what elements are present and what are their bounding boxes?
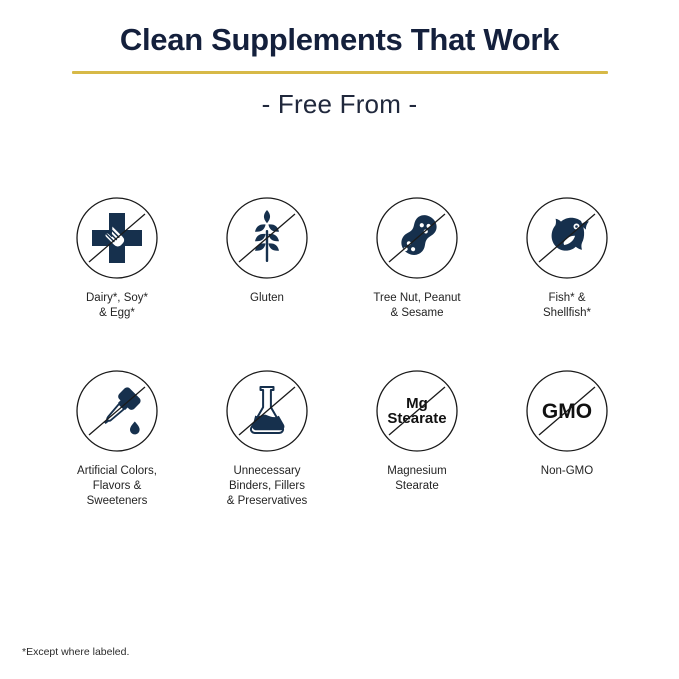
gmo-text-icon: GMO — [525, 369, 609, 453]
free-from-item-non-gmo: GMO Non-GMO — [492, 369, 642, 479]
page-subtitle: - Free From - — [0, 89, 679, 120]
free-from-item-label: Non-GMO — [541, 464, 593, 479]
page-title: Clean Supplements That Work — [0, 22, 679, 58]
free-from-item-dairy-soy-egg: Dairy*, Soy* & Egg* — [42, 196, 192, 320]
free-from-item-artificial-colors: Artificial Colors, Flavors & Sweeteners — [42, 369, 192, 508]
wheat-stalk-icon — [225, 196, 309, 280]
free-from-item-label: Artificial Colors, Flavors & Sweeteners — [77, 464, 157, 508]
free-from-infographic: Clean Supplements That Work - Free From … — [0, 0, 679, 679]
free-from-item-label: Dairy*, Soy* & Egg* — [86, 291, 148, 320]
free-from-item-gluten: Gluten — [192, 196, 342, 306]
free-from-row-2: Artificial Colors, Flavors & Sweeteners … — [0, 369, 679, 508]
free-from-item-label: Fish* & Shellfish* — [543, 291, 591, 320]
mg-stearate-line-2: Stearate — [387, 410, 446, 427]
fish-icon — [525, 196, 609, 280]
peanut-icon — [375, 196, 459, 280]
free-from-item-tree-nut-peanut-sesame: Tree Nut, Peanut & Sesame — [342, 196, 492, 320]
free-from-item-binders-fillers: Unnecessary Binders, Fillers & Preservat… — [192, 369, 342, 508]
free-from-grid: Dairy*, Soy* & Egg* — [0, 196, 679, 509]
free-from-row-1: Dairy*, Soy* & Egg* — [0, 196, 679, 320]
header: Clean Supplements That Work - Free From … — [0, 0, 679, 120]
title-divider — [72, 71, 608, 74]
eyedropper-icon — [75, 369, 159, 453]
free-from-item-label: Tree Nut, Peanut & Sesame — [373, 291, 460, 320]
free-from-item-fish-shellfish: Fish* & Shellfish* — [492, 196, 642, 320]
medical-cross-hand-icon — [75, 196, 159, 280]
free-from-item-label: Unnecessary Binders, Fillers & Preservat… — [227, 464, 308, 508]
footnote: *Except where labeled. — [22, 646, 129, 658]
mg-stearate-text-icon: Mg Stearate — [375, 369, 459, 453]
free-from-item-label: Magnesium Stearate — [387, 464, 446, 493]
free-from-item-label: Gluten — [250, 291, 284, 306]
free-from-item-magnesium-stearate: Mg Stearate Magnesium Stearate — [342, 369, 492, 493]
erlenmeyer-flask-icon — [225, 369, 309, 453]
